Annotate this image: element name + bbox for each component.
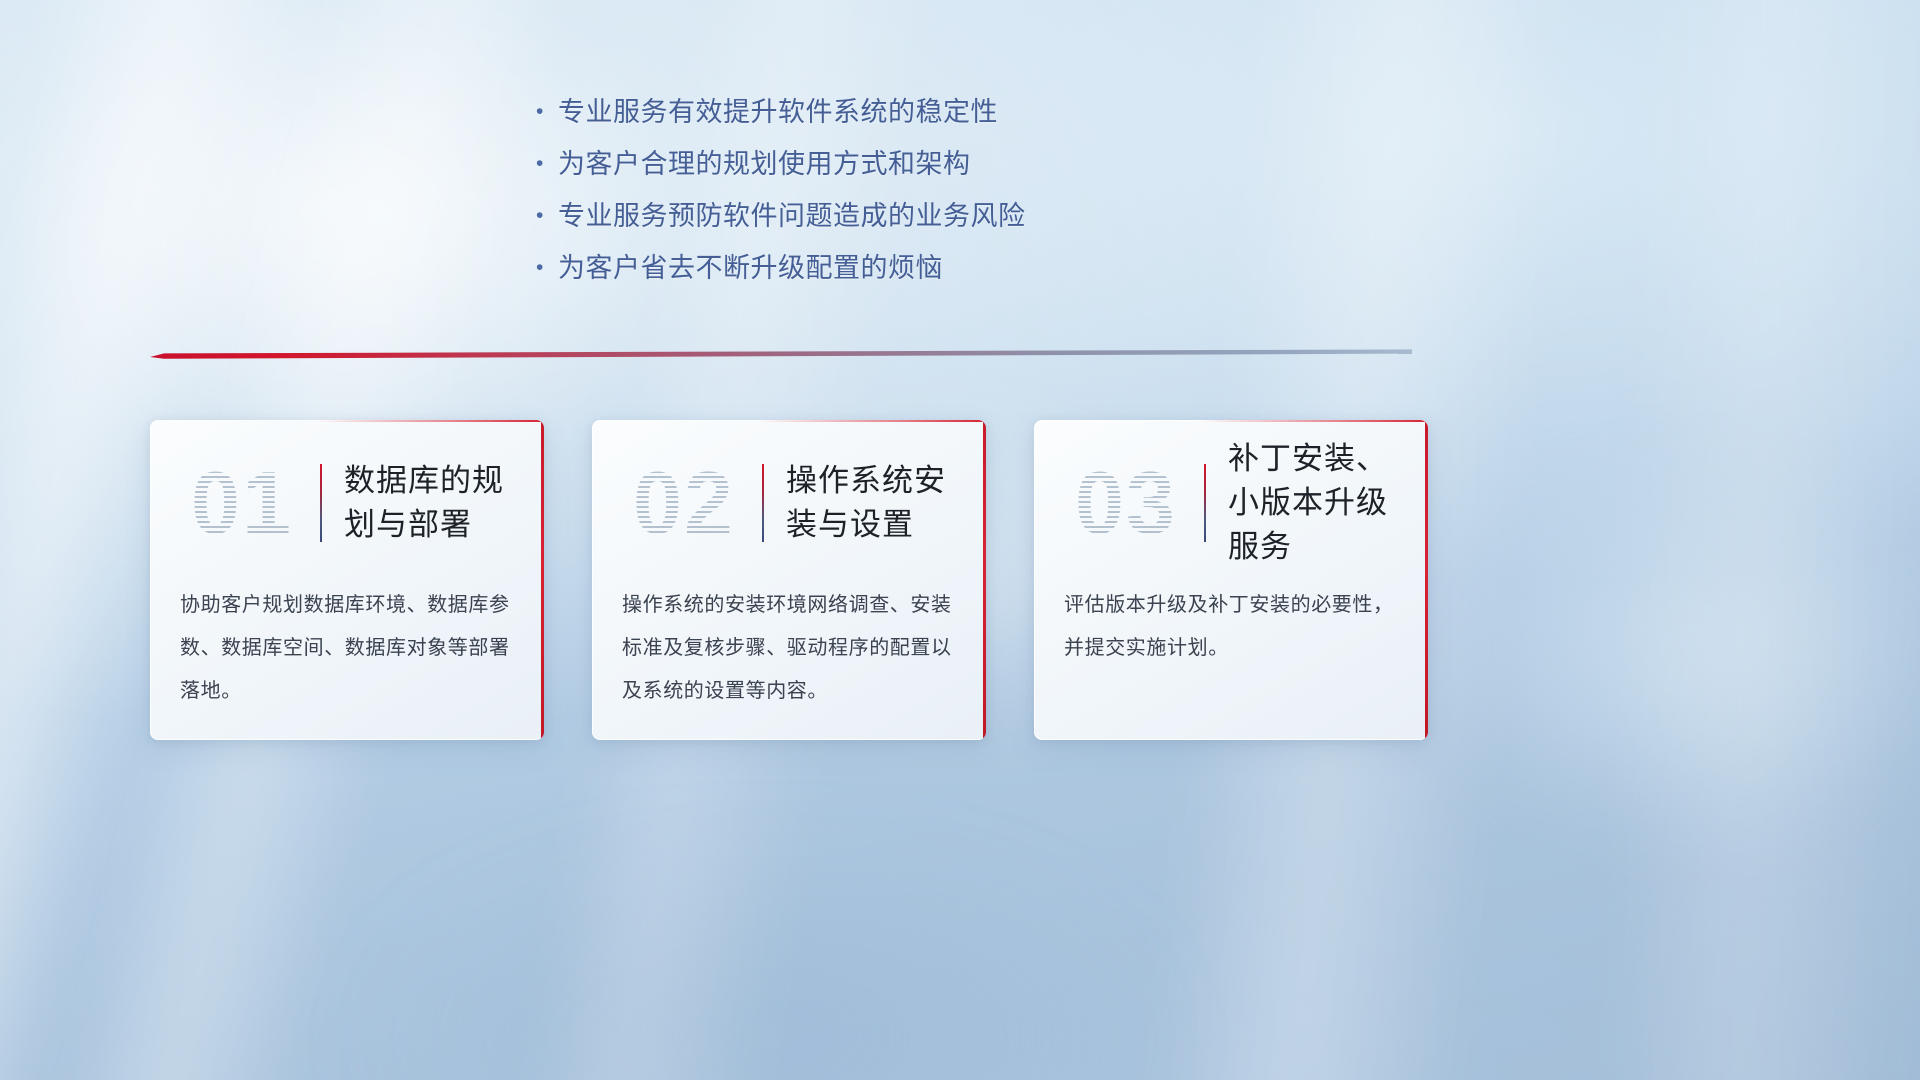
card-title: 操作系统安装与设置 (786, 459, 986, 547)
card-top-accent (315, 420, 544, 422)
bullet-dot-icon: • (536, 248, 558, 288)
list-item: • 为客户合理的规划使用方式和架构 (536, 144, 1296, 196)
card-description: 评估版本升级及补丁安装的必要性，并提交实施计划。 (1064, 584, 1402, 670)
card-title: 数据库的规划与部署 (344, 459, 544, 547)
card-description: 协助客户规划数据库环境、数据库参数、数据库空间、数据库对象等部署落地。 (180, 584, 518, 713)
card-number: 02 (610, 451, 758, 555)
bullet-text: 专业服务预防软件问题造成的业务风险 (558, 196, 1026, 236)
service-card-01[interactable]: 01 数据库的规划与部署 协助客户规划数据库环境、数据库参数、数据库空间、数据库… (150, 420, 544, 740)
bullet-dot-icon: • (536, 92, 558, 132)
bullet-text: 为客户省去不断升级配置的烦恼 (558, 248, 943, 288)
service-cards: 01 数据库的规划与部署 协助客户规划数据库环境、数据库参数、数据库空间、数据库… (150, 420, 1610, 740)
card-title: 补丁安装、小版本升级服务 (1228, 437, 1428, 569)
bullet-dot-icon: • (536, 144, 558, 184)
card-divider-bar (1204, 464, 1206, 542)
service-card-02[interactable]: 02 操作系统安装与设置 操作系统的安装环境网络调查、安装标准及复核步骤、驱动程… (592, 420, 986, 740)
bullet-text: 为客户合理的规划使用方式和架构 (558, 144, 971, 184)
card-header: 01 数据库的规划与部署 (150, 438, 544, 568)
card-divider-bar (320, 464, 322, 542)
service-card-03[interactable]: 03 补丁安装、小版本升级服务 评估版本升级及补丁安装的必要性，并提交实施计划。 (1034, 420, 1428, 740)
list-item: • 专业服务预防软件问题造成的业务风险 (536, 196, 1296, 248)
section-divider (150, 349, 1412, 365)
bullet-text: 专业服务有效提升软件系统的稳定性 (558, 92, 998, 132)
card-description: 操作系统的安装环境网络调查、安装标准及复核步骤、驱动程序的配置以及系统的设置等内… (622, 584, 960, 713)
card-top-accent (1199, 420, 1428, 422)
card-header: 02 操作系统安装与设置 (592, 438, 986, 568)
list-item: • 为客户省去不断升级配置的烦恼 (536, 248, 1296, 300)
benefits-bullet-list: • 专业服务有效提升软件系统的稳定性 • 为客户合理的规划使用方式和架构 • 专… (536, 92, 1296, 300)
card-number: 03 (1052, 451, 1200, 555)
card-header: 03 补丁安装、小版本升级服务 (1034, 438, 1428, 568)
bullet-dot-icon: • (536, 196, 558, 236)
card-number: 01 (168, 451, 316, 555)
list-item: • 专业服务有效提升软件系统的稳定性 (536, 92, 1296, 144)
divider-shape (150, 349, 1412, 365)
card-divider-bar (762, 464, 764, 542)
card-top-accent (757, 420, 986, 422)
